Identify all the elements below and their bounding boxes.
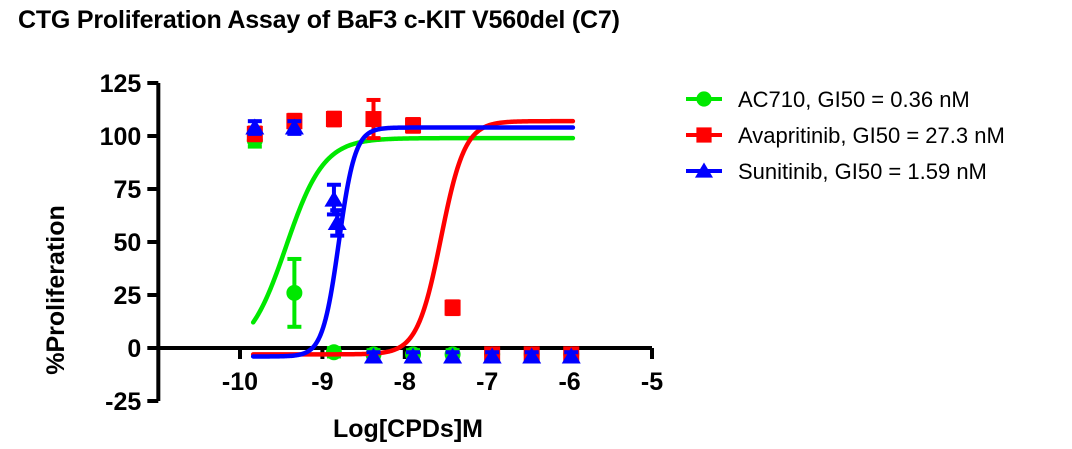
data-point-marker [286,285,302,301]
data-point-marker [365,111,381,127]
x-tick-label: -9 [311,368,333,396]
y-tick-label: -25 [105,388,141,416]
series-ac710 [247,132,579,362]
y-tick-label: 0 [127,335,141,363]
data-point-marker [324,191,343,207]
proliferation-dose-response-chart: -250255075100125 -10-9-8-7-6-5 %Prolifer… [0,0,1072,449]
legend-label: Sunitinib, GI50 = 1.59 nM [738,159,987,184]
data-series-group [245,100,580,364]
y-tick-label: 100 [100,123,142,151]
y-axis: -250255075100125 [100,70,159,416]
fit-curve [253,121,573,354]
data-point-marker [696,91,711,106]
fit-curve [253,128,573,357]
x-tick-label: -10 [222,368,258,396]
figure-container: CTG Proliferation Assay of BaF3 c-KIT V5… [0,0,1072,449]
data-point-marker [696,127,711,142]
x-tick-label: -5 [641,368,663,396]
x-tick-label: -8 [394,368,416,396]
legend-item-0[interactable]: AC710, GI50 = 0.36 nM [686,87,970,112]
y-tick-label: 75 [114,176,142,204]
x-axis-title: Log[CPDs]M [333,415,483,443]
y-axis-title: %Proliferation [42,205,70,374]
legend-item-1[interactable]: Avapritinib, GI50 = 27.3 nM [686,123,1005,148]
y-tick-label: 50 [114,229,142,257]
data-point-marker [445,300,461,316]
legend-label: Avapritinib, GI50 = 27.3 nM [738,123,1005,148]
x-tick-label: -6 [558,368,580,396]
y-tick-label: 25 [114,282,142,310]
y-tick-label: 125 [100,70,142,98]
legend-item-2[interactable]: Sunitinib, GI50 = 1.59 nM [686,159,987,184]
legend-label: AC710, GI50 = 0.36 nM [738,87,970,112]
data-point-marker [326,111,342,127]
chart-legend: AC710, GI50 = 0.36 nMAvapritinib, GI50 =… [686,87,1005,184]
x-tick-label: -7 [476,368,498,396]
